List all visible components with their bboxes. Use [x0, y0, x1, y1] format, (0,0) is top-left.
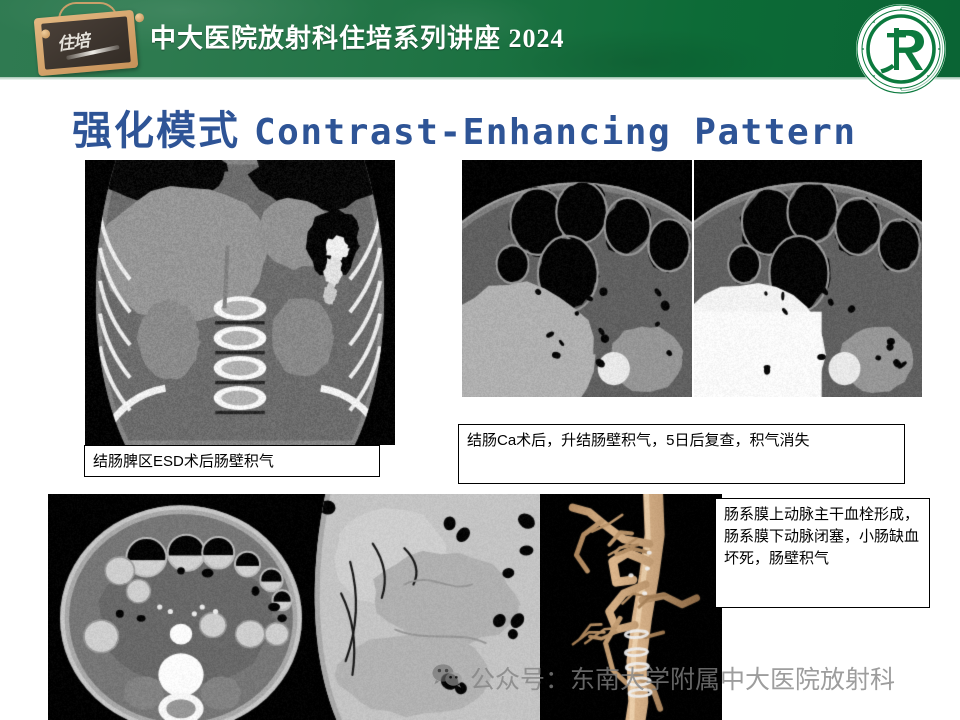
coronal-abdominal-ct-image — [85, 160, 395, 445]
page-title-cn: 强化模式 — [72, 109, 240, 153]
axial-ct-pneumatosis-image — [48, 494, 314, 720]
axial-ct-followup-image — [694, 160, 922, 397]
axial-ct-pre-image — [462, 160, 692, 397]
chalkboard-frame: 住培 — [34, 10, 139, 76]
chalkboard-sign-icon: 住培 — [28, 2, 144, 80]
header-banner: 住培 中大医院放射科住培系列讲座 2024 — [0, 0, 960, 80]
caption-box-3: 肠系膜上动脉主干血栓形成，肠系膜下动脉闭塞，小肠缺血坏死，肠壁积气 — [715, 498, 930, 608]
header-title: 中大医院放射科住培系列讲座 2024 — [150, 18, 565, 55]
page-title-en: Contrast-Enhancing Pattern — [254, 112, 857, 153]
caption-box-2: 结肠Ca术后，升结肠壁积气，5日后复查，积气消失 — [458, 424, 905, 484]
header-bottom-edge — [0, 77, 960, 80]
radiology-department-logo — [854, 2, 948, 96]
sagittal-ct-pneumatosis-image — [314, 494, 540, 720]
page-title: 强化模式Contrast-Enhancing Pattern — [72, 98, 932, 156]
caption-box-1: 结肠脾区ESD术后肠壁积气 — [84, 445, 380, 477]
chalkboard-knob-right — [135, 13, 145, 23]
chalkboard-surface: 住培 — [41, 16, 131, 69]
cta-volume-rendering-image — [540, 494, 722, 720]
